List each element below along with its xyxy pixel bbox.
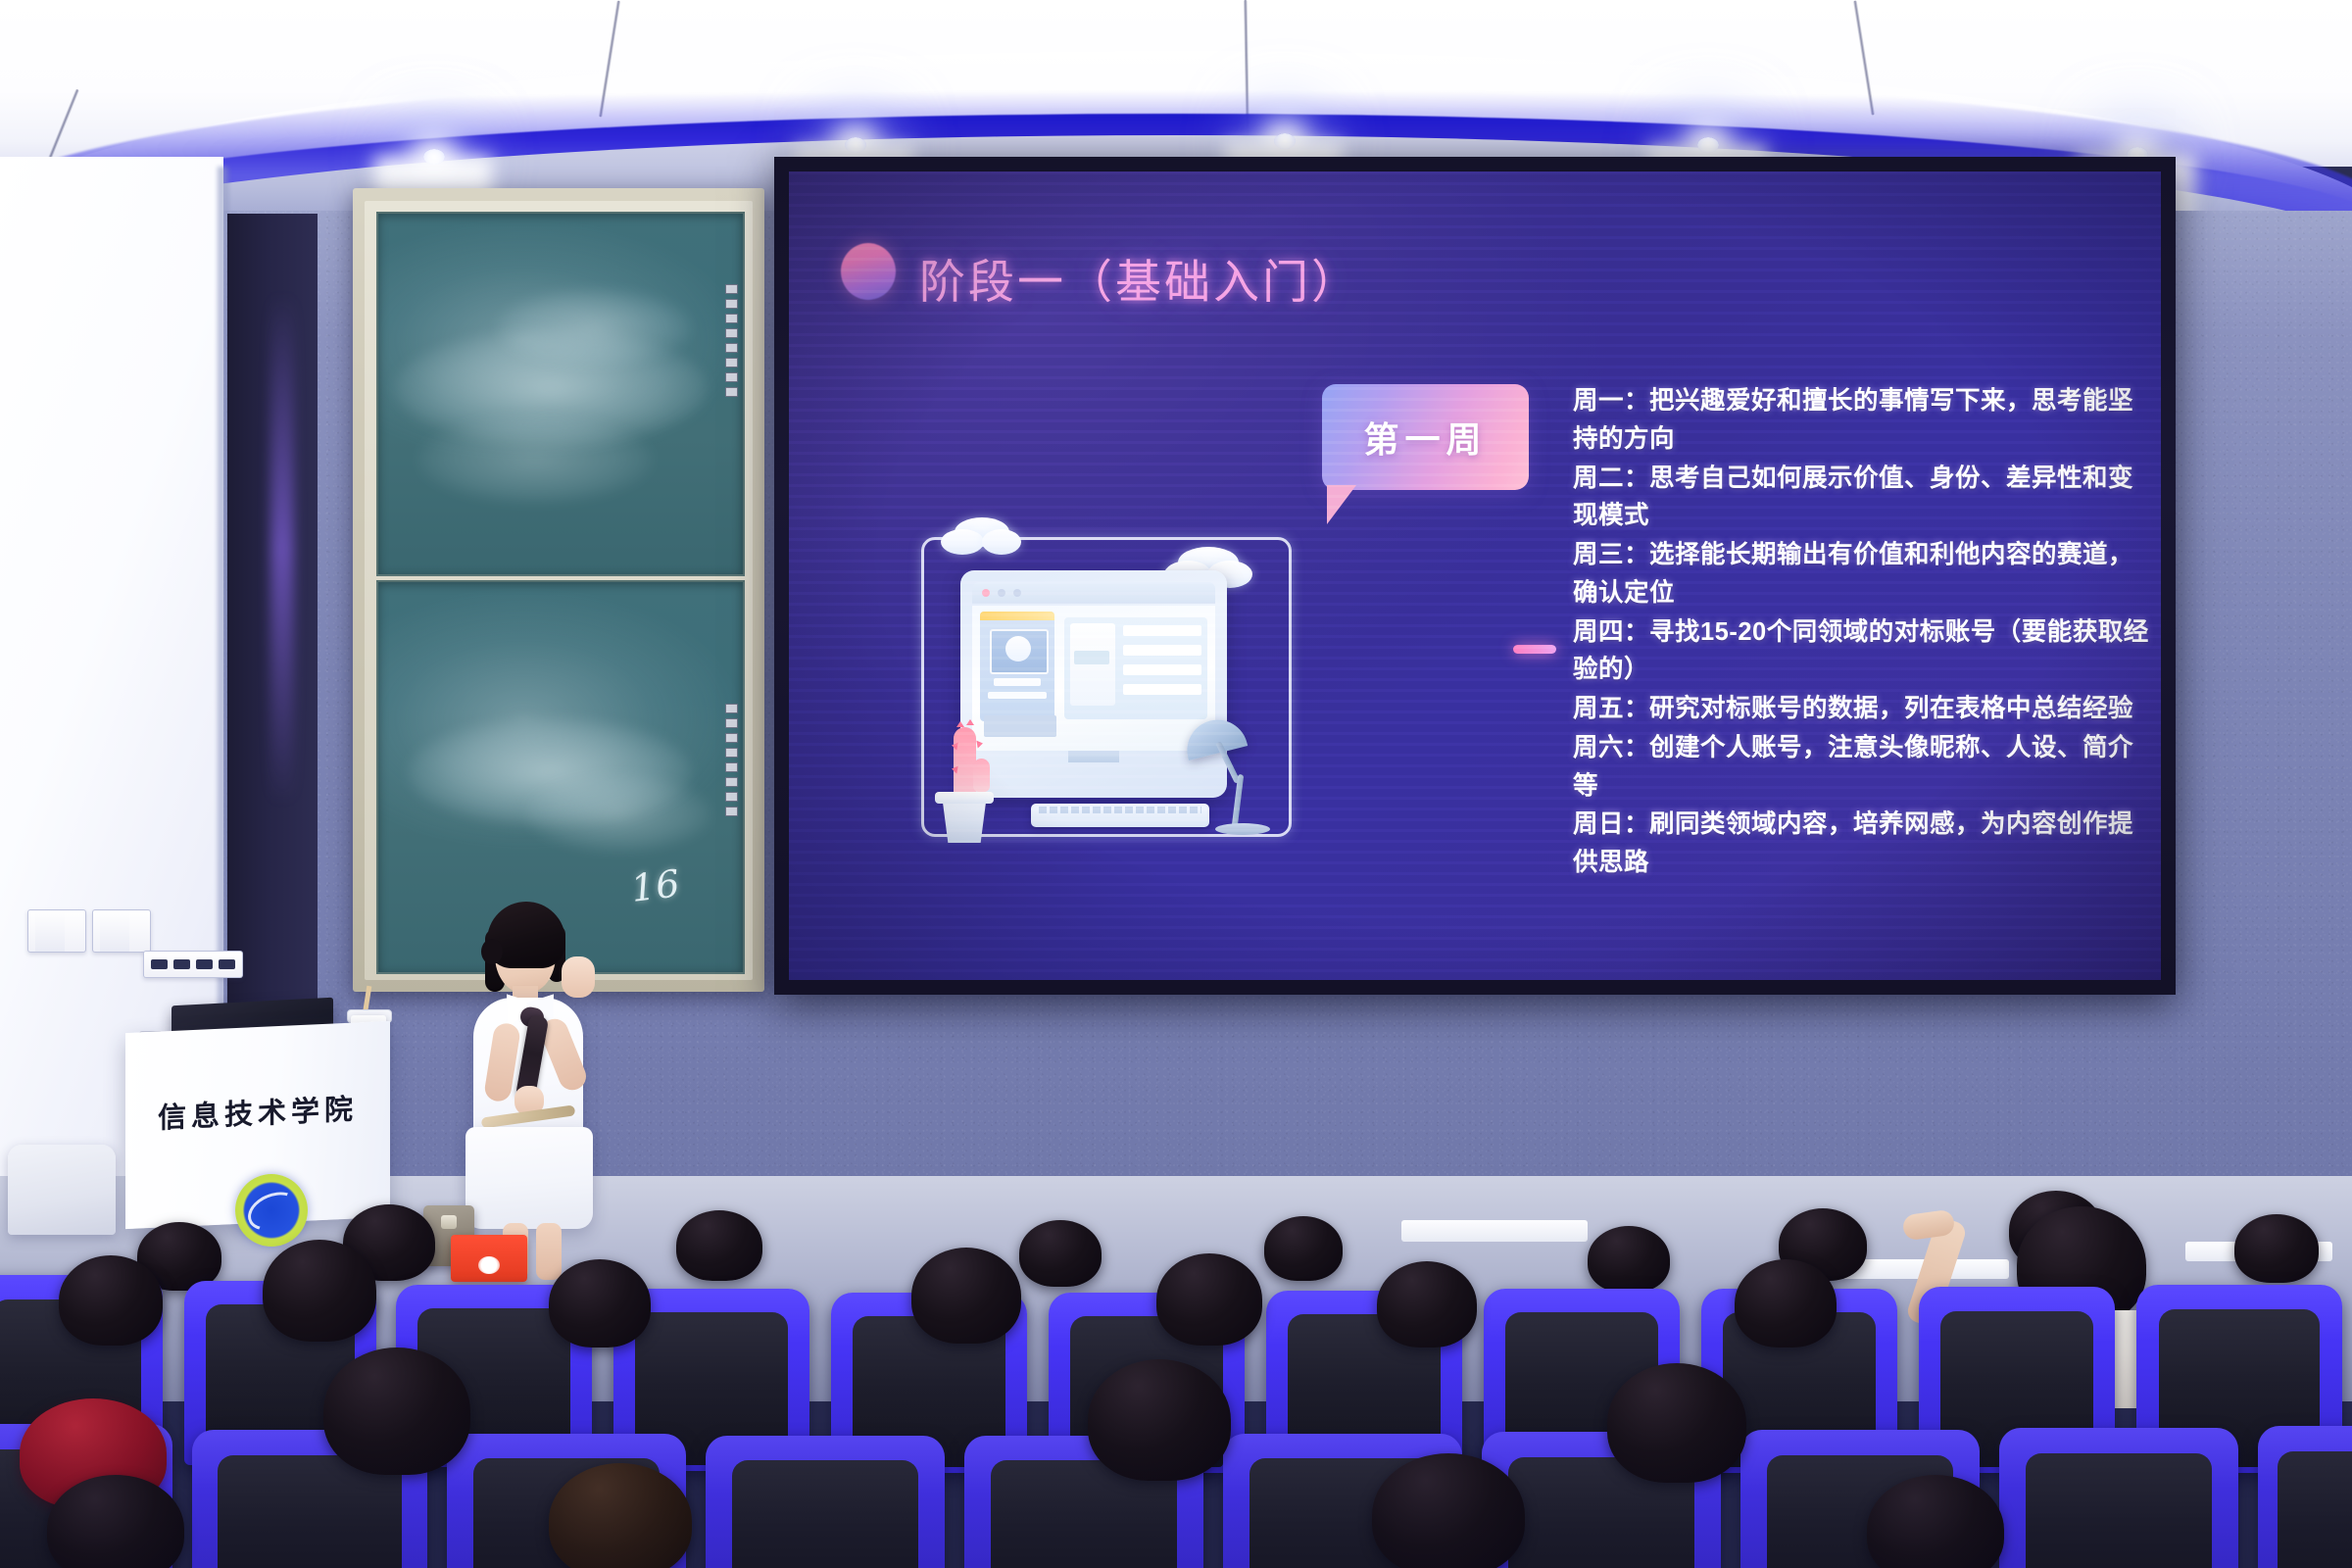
- blackboard-panel-upper: [376, 212, 745, 576]
- keyboard-keys: [1039, 807, 1201, 813]
- column-glow: [270, 294, 294, 804]
- accent-dash: [1513, 645, 1556, 654]
- audience-head: [1019, 1220, 1102, 1287]
- power-socket-strip[interactable]: [143, 951, 243, 978]
- plant-pot-rim: [935, 792, 994, 804]
- schedule-item: 周五：研究对标账号的数据，列在表格中总结经验: [1573, 690, 2151, 728]
- audience-head: [1264, 1216, 1343, 1281]
- desk-surface: [1401, 1220, 1588, 1242]
- schedule-item: 周一：把兴趣爱好和擅长的事情写下来，思考能坚持的方向: [1573, 382, 2151, 459]
- blackboard-rail-lower: [725, 704, 738, 816]
- audience-head: [59, 1255, 163, 1346]
- monitor-neck: [1068, 751, 1119, 762]
- blackboard-rail-upper: [725, 284, 738, 397]
- audience-head: [676, 1210, 762, 1281]
- light-switch[interactable]: [92, 909, 151, 953]
- presenter-raised-hand: [562, 956, 595, 998]
- audience-head: [323, 1347, 470, 1475]
- schedule-item: 周四：寻找15-20个同领域的对标账号（要能获取经验的）: [1573, 613, 2151, 690]
- presenter-hair-bun: [481, 939, 503, 964]
- avatar-icon: [1005, 636, 1031, 661]
- seat[interactable]: [2258, 1426, 2352, 1568]
- audience-head: [1156, 1253, 1262, 1346]
- list-footer: [984, 715, 1056, 737]
- desktop-workspace-illustration: [921, 510, 1313, 882]
- cloud-icon: [941, 529, 984, 555]
- audience-head: [2234, 1214, 2319, 1283]
- cloud-icon: [982, 529, 1021, 555]
- text-placeholder: [988, 692, 1047, 699]
- blackboard-chalk-note: 16: [629, 861, 683, 910]
- audience-head: [911, 1248, 1021, 1344]
- list-row: [1123, 625, 1201, 636]
- window-dot-icon: [982, 589, 990, 597]
- podium-front-panel: 信息技术学院: [125, 1070, 390, 1152]
- cactus-spike: [956, 721, 964, 727]
- window-dot-icon: [998, 589, 1005, 597]
- desk-lamp-base: [1215, 823, 1270, 835]
- week-badge-label: 第一周: [1322, 384, 1529, 490]
- text-placeholder: [994, 678, 1041, 686]
- seat[interactable]: [1999, 1428, 2238, 1568]
- audience-head: [1372, 1453, 1525, 1568]
- window-dot-icon: [1013, 589, 1021, 597]
- schedule-item: 周六：创建个人账号，注意头像昵称、人设、简介等: [1573, 729, 2151, 806]
- list-row: [1123, 684, 1201, 695]
- list-row: [1123, 664, 1201, 675]
- audience-area: [0, 1191, 2352, 1568]
- browser-titlebar: [972, 582, 1215, 604]
- week-badge-tail: [1327, 485, 1356, 524]
- schedule-item: 周日：刷同类领域内容，培养网感，为内容创作提供思路: [1573, 806, 2151, 882]
- cactus-arm: [973, 759, 990, 792]
- schedule-item: 周三：选择能长期输出有价值和利他内容的赛道，确认定位: [1573, 536, 2151, 612]
- light-switch[interactable]: [27, 909, 86, 953]
- slide-schedule-list: 周一：把兴趣爱好和擅长的事情写下来，思考能坚持的方向 周二：思考自己如何展示价值…: [1573, 382, 2151, 883]
- seat[interactable]: [706, 1436, 945, 1568]
- cactus-spike: [976, 740, 983, 749]
- audience-head: [1607, 1363, 1746, 1483]
- audience-head: [1867, 1475, 2004, 1568]
- lecture-hall-photo: 16 阶段一（基础入门） 第一周: [0, 0, 2352, 1568]
- list-row: [1123, 645, 1201, 656]
- podium-label: 信息技术学院: [158, 1086, 358, 1136]
- audience-head: [549, 1259, 651, 1347]
- audience-head: [1735, 1259, 1837, 1347]
- title-bullet-icon: [841, 243, 896, 300]
- profile-card-accent: [980, 612, 1054, 620]
- audience-head: [1588, 1226, 1670, 1293]
- list-thumb: [1074, 651, 1109, 664]
- audience-head: [549, 1463, 692, 1568]
- audience-head: [1088, 1359, 1231, 1481]
- schedule-item: 周二：思考自己如何展示价值、身份、差异性和变现模式: [1573, 460, 2151, 536]
- slide-title: 阶段一（基础入门）: [919, 244, 1360, 312]
- audience-head: [263, 1240, 376, 1342]
- list-column: [1070, 623, 1115, 706]
- audience-head: [1377, 1261, 1477, 1347]
- cactus-spike: [966, 719, 974, 725]
- browser-content: [972, 606, 1215, 751]
